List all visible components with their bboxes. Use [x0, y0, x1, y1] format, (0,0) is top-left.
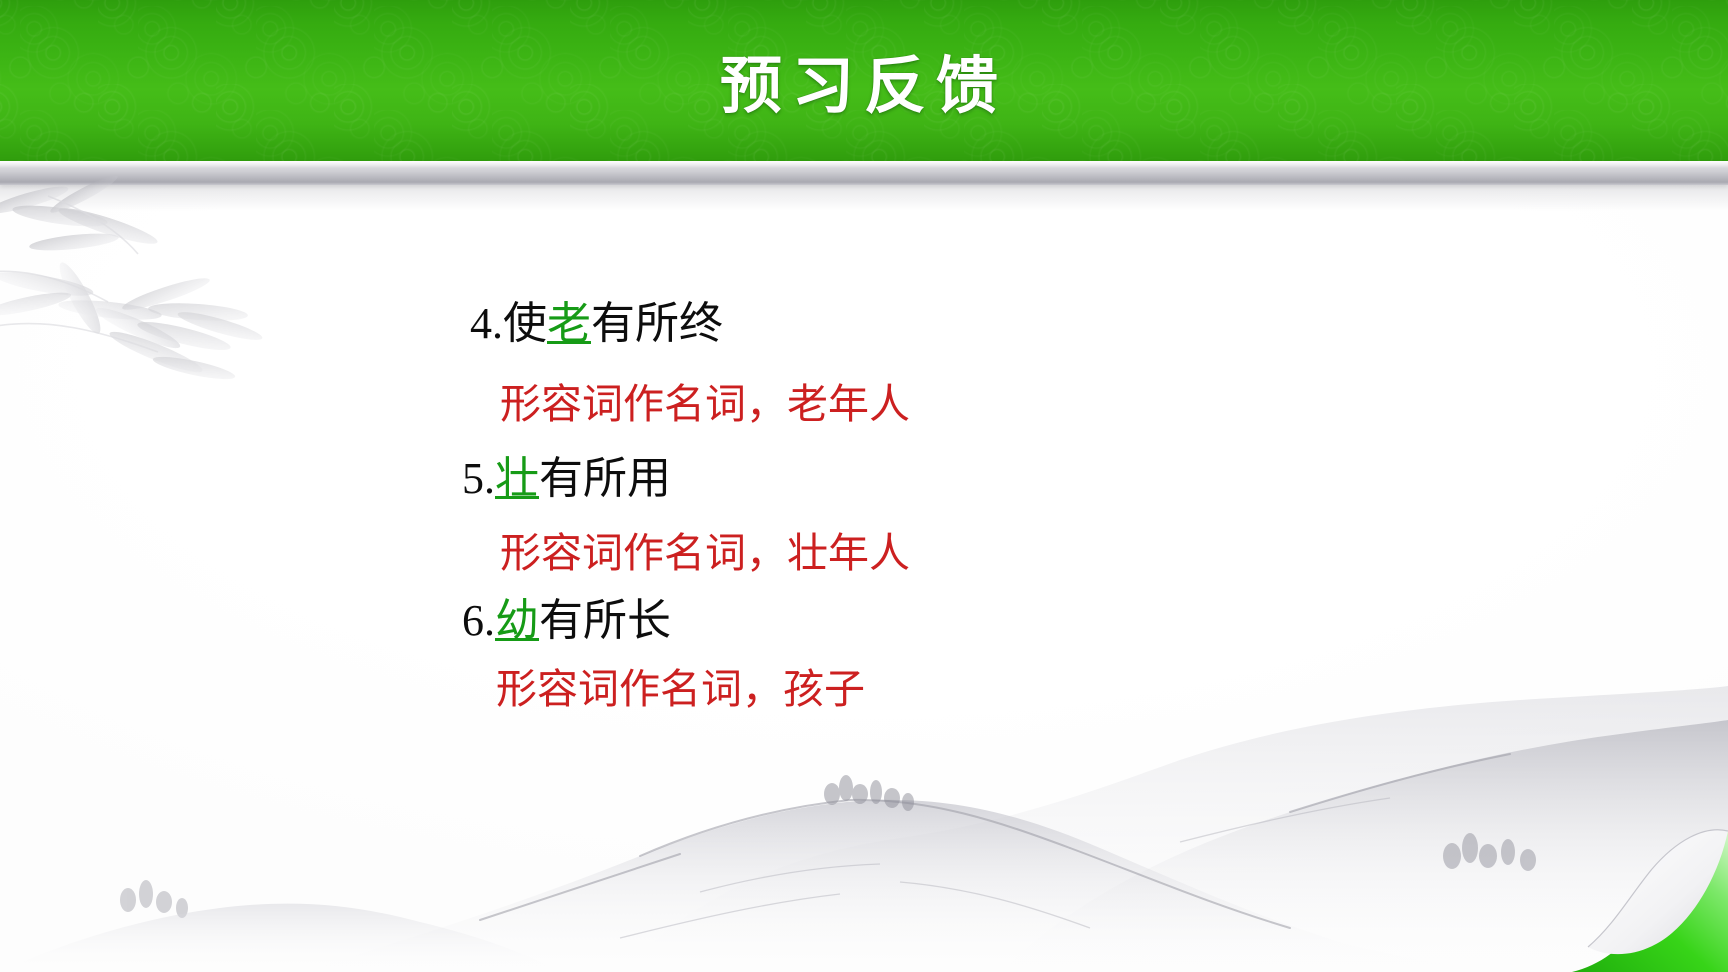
list-item-answer-2: 形容词作名词，壮年人: [500, 531, 910, 576]
item-keyword: 老: [547, 299, 591, 348]
list-item-question-3: 6.幼有所长: [462, 597, 671, 645]
item-number: 5.: [462, 454, 495, 503]
presentation-slide: 预习反馈: [0, 0, 1728, 972]
item-suffix: 有所终: [591, 299, 723, 348]
item-prefix: 使: [503, 299, 547, 348]
item-suffix: 有所用: [539, 454, 671, 503]
item-keyword: 壮: [495, 454, 539, 503]
item-keyword: 幼: [495, 596, 539, 645]
item-number: 6.: [462, 596, 495, 645]
slide-content: 4.使老有所终 形容词作名词，老年人 5.壮有所用 形容词作名词，壮年人 6.幼…: [0, 0, 1728, 972]
list-item-question-1: 4.使老有所终: [470, 300, 723, 348]
list-item-answer-1: 形容词作名词，老年人: [500, 382, 910, 427]
item-number: 4.: [470, 299, 503, 348]
list-item-question-2: 5.壮有所用: [462, 455, 671, 503]
item-suffix: 有所长: [539, 596, 671, 645]
list-item-answer-3: 形容词作名词，孩子: [496, 667, 865, 712]
